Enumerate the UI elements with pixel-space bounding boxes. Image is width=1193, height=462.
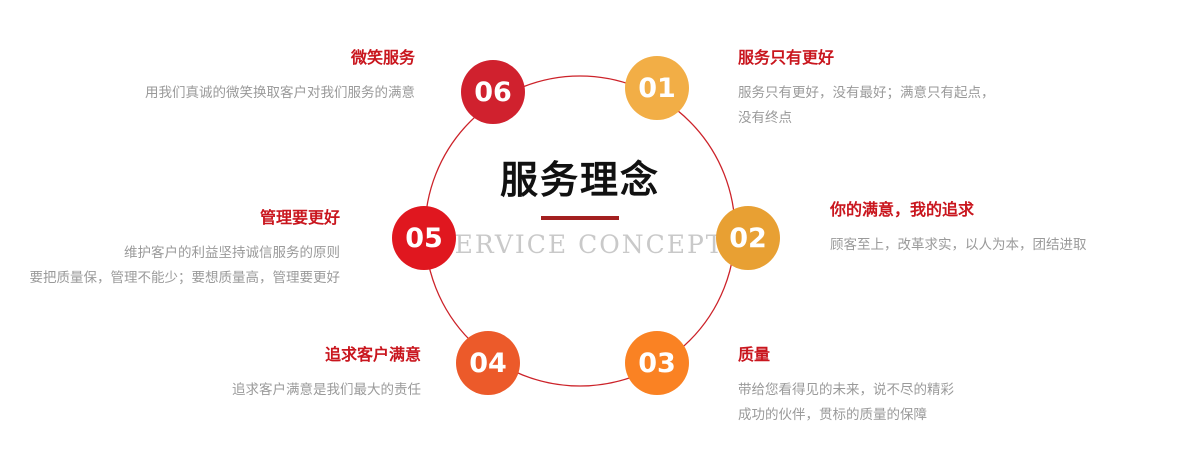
item-description-line: 服务只有更好，没有最好；满意只有起点， [738, 81, 995, 106]
item-block-04: 追求客户满意追求客户满意是我们最大的责任 [151, 345, 421, 403]
item-description-line: 用我们真诚的微笑换取客户对我们服务的满意 [100, 81, 415, 106]
item-heading-01: 服务只有更好 [738, 48, 995, 69]
node-circle-02[interactable]: 02 [716, 206, 780, 270]
item-description-line: 成功的伙伴，贯标的质量的保障 [738, 403, 954, 428]
service-concept-infographic: 服务理念 SERVICE CONCEPT 010203040506 服务只有更好… [0, 0, 1193, 462]
node-number-label: 02 [729, 223, 767, 254]
item-block-03: 质量带给您看得见的未来，说不尽的精彩成功的伙伴，贯标的质量的保障 [738, 345, 954, 428]
item-heading-03: 质量 [738, 345, 954, 366]
node-circle-03[interactable]: 03 [625, 331, 689, 395]
node-number-label: 06 [474, 77, 512, 108]
item-description-line: 带给您看得见的未来，说不尽的精彩 [738, 378, 954, 403]
item-heading-02: 你的满意，我的追求 [830, 200, 1087, 221]
node-number-label: 04 [469, 348, 507, 379]
item-block-02: 你的满意，我的追求顾客至上，改革求实，以人为本，团结进取 [830, 200, 1087, 258]
item-description-line: 维护客户的利益坚持诚信服务的原则 [10, 241, 340, 266]
item-heading-04: 追求客户满意 [151, 345, 421, 366]
item-heading-06: 微笑服务 [100, 48, 415, 69]
page-title: 服务理念 [425, 160, 735, 202]
item-block-06: 微笑服务用我们真诚的微笑换取客户对我们服务的满意 [100, 48, 415, 106]
node-circle-05[interactable]: 05 [392, 206, 456, 270]
node-circle-06[interactable]: 06 [461, 60, 525, 124]
node-number-label: 01 [638, 73, 676, 104]
item-description-line: 要把质量保，管理不能少；要想质量高，管理要更好 [10, 266, 340, 291]
node-circle-04[interactable]: 04 [456, 331, 520, 395]
page-subtitle: SERVICE CONCEPT [425, 230, 735, 259]
node-circle-01[interactable]: 01 [625, 56, 689, 120]
item-description-line: 追求客户满意是我们最大的责任 [151, 378, 421, 403]
item-block-05: 管理要更好维护客户的利益坚持诚信服务的原则要把质量保，管理不能少；要想质量高，管… [10, 208, 340, 291]
item-description-line: 没有终点 [738, 106, 995, 131]
node-number-label: 03 [638, 348, 676, 379]
title-divider [541, 216, 619, 220]
item-block-01: 服务只有更好服务只有更好，没有最好；满意只有起点，没有终点 [738, 48, 995, 131]
item-heading-05: 管理要更好 [10, 208, 340, 229]
item-description-line: 顾客至上，改革求实，以人为本，团结进取 [830, 233, 1087, 258]
center-label: 服务理念 SERVICE CONCEPT [425, 160, 735, 259]
node-number-label: 05 [405, 223, 443, 254]
